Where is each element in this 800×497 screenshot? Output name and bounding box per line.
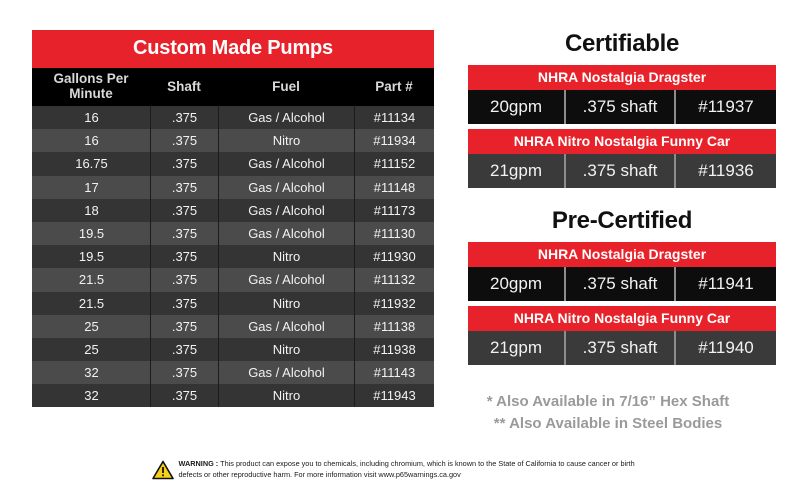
cell-fuel: Gas / Alcohol [218,315,354,338]
warning-triangle-icon [152,460,174,485]
table-row: 32 .375 Nitro #11943 [32,384,434,407]
cell-gpm: 25 [32,338,150,361]
column-header-part-number: Part # [354,80,434,95]
cell-part: #11152 [354,152,434,175]
cell-shaft: .375 [150,384,218,407]
cell-shaft: .375 shaft [564,267,676,301]
cell-gpm: 16 [32,129,150,152]
cell-shaft: .375 [150,268,218,291]
cell-shaft: .375 [150,176,218,199]
table-row: 32 .375 Gas / Alcohol #11143 [32,361,434,384]
table-row: 25 .375 Nitro #11938 [32,338,434,361]
cell-fuel: Nitro [218,129,354,152]
certifiable-funny-car-table: NHRA Nitro Nostalgia Funny Car 21gpm .37… [468,129,776,188]
cell-gpm: 25 [32,315,150,338]
cell-part: #11130 [354,222,434,245]
cell-gpm: 16.75 [32,152,150,175]
cell-shaft: .375 [150,292,218,315]
cell-part: #11936 [676,154,776,188]
cell-part: #11937 [676,90,776,124]
cell-shaft: .375 [150,152,218,175]
footnotes: * Also Available in 7/16” Hex Shaft ** A… [440,391,776,435]
cell-part: #11173 [354,199,434,222]
cell-shaft: .375 [150,361,218,384]
cell-part: #11941 [676,267,776,301]
footnote-steel-bodies: ** Also Available in Steel Bodies [440,413,776,435]
table-row: 16 .375 Gas / Alcohol #11134 [32,106,434,129]
cell-gpm: 20gpm [468,267,564,301]
table-row: 20gpm .375 shaft #11937 [468,90,776,124]
cell-gpm: 16 [32,106,150,129]
cell-fuel: Gas / Alcohol [218,222,354,245]
footnote-hex-shaft: * Also Available in 7/16” Hex Shaft [440,391,776,413]
cell-gpm: 20gpm [468,90,564,124]
cell-part: #11930 [354,245,434,268]
cell-fuel: Gas / Alcohol [218,268,354,291]
cell-gpm: 18 [32,199,150,222]
column-header-fuel: Fuel [218,80,354,95]
table-row: 19.5 .375 Gas / Alcohol #11130 [32,222,434,245]
cell-part: #11143 [354,361,434,384]
cell-gpm: 21.5 [32,268,150,291]
prop65-warning: WARNING : This product can expose you to… [0,459,800,485]
table-row: 16.75 .375 Gas / Alcohol #11152 [32,152,434,175]
table-row: 21.5 .375 Nitro #11932 [32,292,434,315]
custom-made-pumps-table: Custom Made Pumps Gallons Per Minute Sha… [32,30,434,407]
sub-table-header: NHRA Nitro Nostalgia Funny Car [468,306,776,331]
cell-gpm: 32 [32,384,150,407]
cell-part: #11932 [354,292,434,315]
cell-fuel: Gas / Alcohol [218,361,354,384]
certifiable-dragster-table: NHRA Nostalgia Dragster 20gpm .375 shaft… [468,65,776,124]
certifiable-title: Certifiable [468,30,776,58]
cell-shaft: .375 shaft [564,154,676,188]
cell-part: #11132 [354,268,434,291]
cell-gpm: 21gpm [468,331,564,365]
cell-part: #11138 [354,315,434,338]
main-table-title: Custom Made Pumps [32,30,434,68]
table-row: 21.5 .375 Gas / Alcohol #11132 [32,268,434,291]
cell-shaft: .375 [150,245,218,268]
cell-shaft: .375 [150,199,218,222]
table-row: 17 .375 Gas / Alcohol #11148 [32,176,434,199]
cell-gpm: 32 [32,361,150,384]
sub-table-header: NHRA Nitro Nostalgia Funny Car [468,129,776,154]
cell-fuel: Nitro [218,338,354,361]
cell-part: #11134 [354,106,434,129]
cell-shaft: .375 [150,338,218,361]
main-table-header-row: Gallons Per Minute Shaft Fuel Part # [32,68,434,106]
table-row: 25 .375 Gas / Alcohol #11138 [32,315,434,338]
cell-gpm: 19.5 [32,245,150,268]
precertified-dragster-table: NHRA Nostalgia Dragster 20gpm .375 shaft… [468,242,776,301]
warning-body: This product can expose you to chemicals… [179,459,635,479]
sub-table-header: NHRA Nostalgia Dragster [468,242,776,267]
precertified-funny-car-table: NHRA Nitro Nostalgia Funny Car 21gpm .37… [468,306,776,365]
cell-fuel: Gas / Alcohol [218,152,354,175]
cell-shaft: .375 [150,222,218,245]
cell-fuel: Gas / Alcohol [218,199,354,222]
cell-part: #11943 [354,384,434,407]
cell-part: #11938 [354,338,434,361]
cell-shaft: .375 [150,106,218,129]
table-row: 16 .375 Nitro #11934 [32,129,434,152]
table-row: 19.5 .375 Nitro #11930 [32,245,434,268]
cell-shaft: .375 shaft [564,331,676,365]
cell-fuel: Gas / Alcohol [218,106,354,129]
warning-text: WARNING : This product can expose you to… [179,459,649,481]
table-row: 21gpm .375 shaft #11936 [468,154,776,188]
table-row: 21gpm .375 shaft #11940 [468,331,776,365]
cell-part: #11148 [354,176,434,199]
cell-shaft: .375 [150,129,218,152]
column-header-gallons-per-minute: Gallons Per Minute [32,72,150,101]
cell-part: #11934 [354,129,434,152]
certifiable-section: Certifiable NHRA Nostalgia Dragster 20gp… [468,30,776,193]
cell-shaft: .375 shaft [564,90,676,124]
cell-fuel: Nitro [218,292,354,315]
cell-fuel: Nitro [218,384,354,407]
precertified-section: Pre-Certified NHRA Nostalgia Dragster 20… [468,207,776,370]
cell-gpm: 19.5 [32,222,150,245]
cell-fuel: Nitro [218,245,354,268]
sub-table-header: NHRA Nostalgia Dragster [468,65,776,90]
cell-gpm: 21.5 [32,292,150,315]
precertified-title: Pre-Certified [468,207,776,235]
cell-shaft: .375 [150,315,218,338]
cell-fuel: Gas / Alcohol [218,176,354,199]
column-header-shaft: Shaft [150,80,218,95]
cell-part: #11940 [676,331,776,365]
cell-gpm: 17 [32,176,150,199]
cell-gpm: 21gpm [468,154,564,188]
table-row: 18 .375 Gas / Alcohol #11173 [32,199,434,222]
table-row: 20gpm .375 shaft #11941 [468,267,776,301]
warning-label: WARNING : [179,459,219,468]
